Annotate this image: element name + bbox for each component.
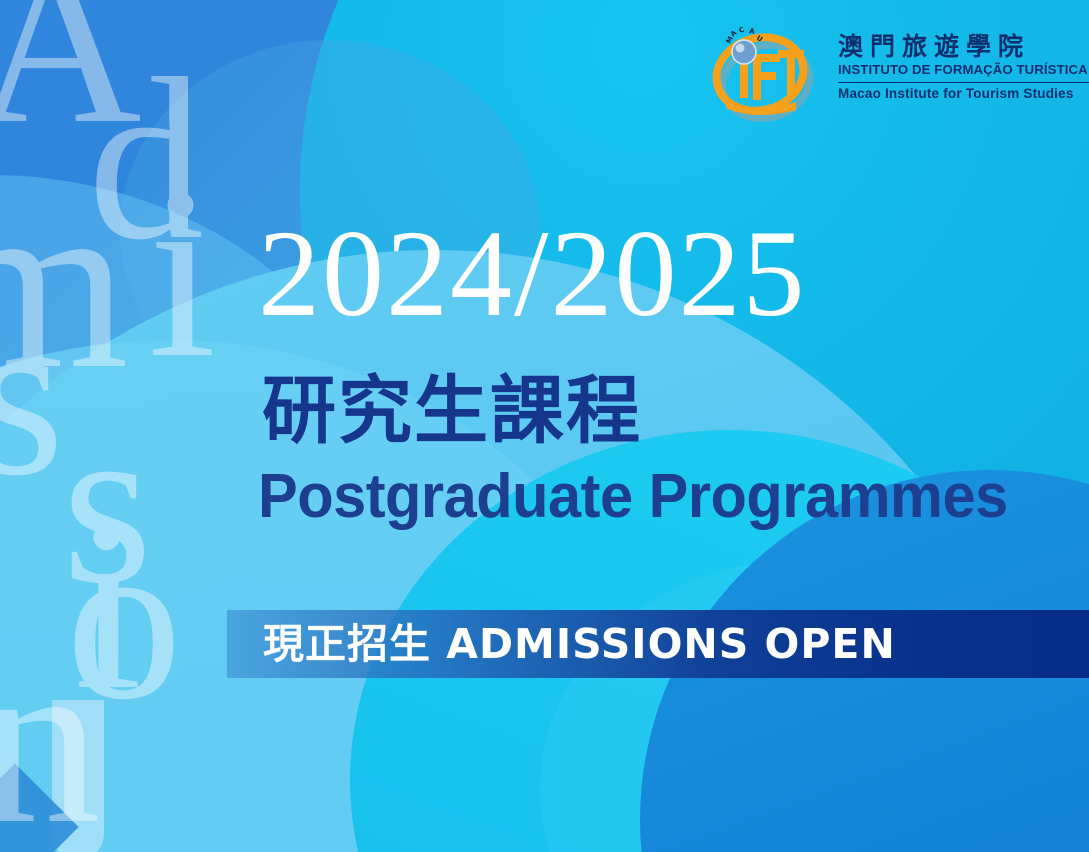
admissions-poster: A d m i s s i o n M A bbox=[0, 0, 1089, 852]
admissions-open-banner: 現正招生 ADMISSIONS OPEN bbox=[227, 610, 1089, 678]
logo-divider bbox=[838, 82, 1089, 83]
ift-logo-text: 澳門旅遊學院 INSTITUTO DE FORMAÇÃO TURÍSTICA D… bbox=[838, 22, 1089, 101]
logo-name-portuguese: INSTITUTO DE FORMAÇÃO TURÍSTICA DE MACAU bbox=[838, 62, 1089, 79]
programme-title-english: Postgraduate Programmes bbox=[258, 466, 1008, 528]
admissions-open-label: 現正招生 ADMISSIONS OPEN bbox=[263, 624, 896, 665]
svg-text:C: C bbox=[738, 26, 746, 35]
ift-monogram-icon: M A C A U bbox=[700, 22, 828, 122]
academic-year-heading: 2024/2025 bbox=[258, 212, 806, 336]
programme-title-chinese: 研究生課程 bbox=[262, 374, 642, 448]
ift-logo: M A C A U 澳門旅遊學院 INSTITUTO DE FORMAÇÃO T… bbox=[700, 22, 1089, 122]
logo-name-chinese: 澳門旅遊學院 bbox=[838, 34, 1089, 60]
logo-name-english: Macao Institute for Tourism Studies bbox=[838, 86, 1089, 101]
